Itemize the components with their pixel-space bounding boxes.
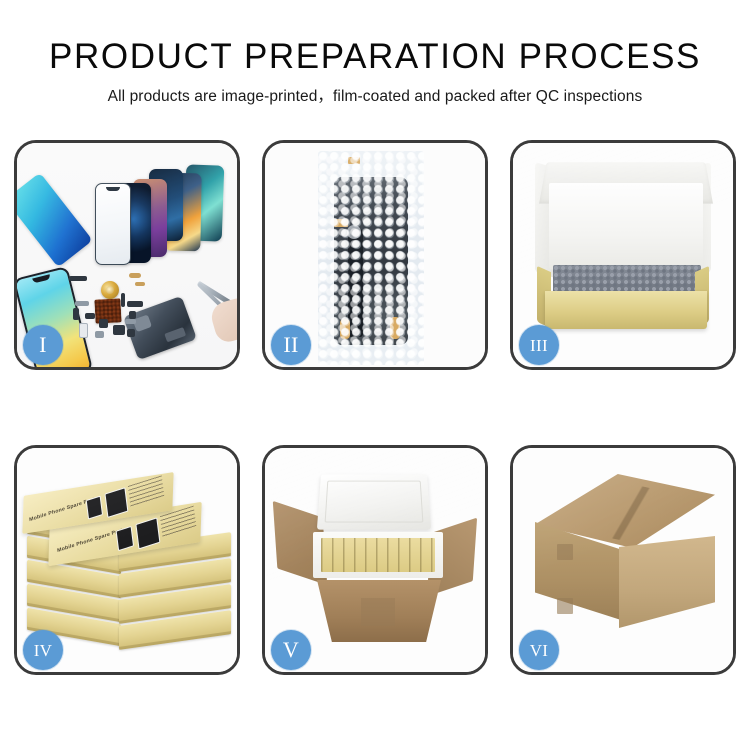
carton-tape-lower bbox=[557, 598, 573, 614]
step-panel-1: I bbox=[14, 140, 240, 370]
step-badge-5: V bbox=[271, 630, 311, 670]
step-numeral-6: VI bbox=[530, 642, 549, 659]
box-window-thumbnail bbox=[116, 526, 134, 551]
step-panel-2: II bbox=[262, 140, 488, 370]
step-panel-4: Mobile Phone Spare Parts Mobile Phone Sp… bbox=[14, 445, 240, 675]
spare-part bbox=[127, 329, 135, 337]
box-stack: Mobile Phone Spare Parts Mobile Phone Sp… bbox=[21, 468, 237, 658]
page-title: PRODUCT PREPARATION PROCESS bbox=[0, 36, 750, 78]
step-badge-2: II bbox=[271, 325, 311, 365]
carton-tape bbox=[361, 598, 395, 626]
process-steps-grid: I II bbox=[14, 140, 736, 675]
spare-part bbox=[99, 319, 108, 328]
box-window-thumbnail bbox=[104, 487, 128, 518]
box-window-thumbnail bbox=[86, 496, 103, 520]
box-spec-lines bbox=[128, 475, 164, 507]
page-header: PRODUCT PREPARATION PROCESS All products… bbox=[0, 36, 750, 108]
step-badge-1: I bbox=[23, 325, 63, 365]
step-numeral-3: III bbox=[530, 337, 548, 354]
spare-part bbox=[129, 273, 141, 278]
spare-part bbox=[129, 311, 136, 319]
step-numeral-4: IV bbox=[34, 642, 53, 659]
box-window-thumbnail bbox=[135, 517, 160, 549]
spare-part bbox=[121, 293, 125, 307]
spare-part bbox=[125, 319, 136, 324]
spare-part bbox=[135, 282, 145, 286]
phone-glass-panel bbox=[95, 183, 131, 265]
step-numeral-1: I bbox=[39, 334, 47, 356]
bubble-wrap-bag bbox=[318, 151, 424, 365]
step-badge-4: IV bbox=[23, 630, 63, 670]
page-subtitle: All products are image-printed，film-coat… bbox=[0, 86, 750, 108]
step-panel-3: III bbox=[510, 140, 736, 370]
bubble-texture-overlay bbox=[318, 151, 424, 365]
spare-part bbox=[113, 325, 125, 335]
step-badge-3: III bbox=[519, 325, 559, 365]
spare-part bbox=[73, 308, 79, 320]
step-numeral-5: V bbox=[283, 639, 299, 661]
spare-part bbox=[95, 331, 104, 338]
spare-part bbox=[69, 276, 87, 281]
gold-coil-part bbox=[101, 281, 119, 299]
step-panel-6: VI bbox=[510, 445, 736, 675]
step-numeral-2: II bbox=[283, 334, 298, 356]
white-foam-liner bbox=[549, 183, 703, 269]
step-panel-5: V bbox=[262, 445, 488, 675]
spare-part bbox=[79, 323, 88, 338]
styrofoam-lid bbox=[317, 474, 431, 529]
spare-part bbox=[75, 301, 89, 306]
step-badge-6: VI bbox=[519, 630, 559, 670]
kraft-box-front bbox=[545, 291, 707, 329]
carton-tape-upper bbox=[557, 544, 573, 560]
yellow-boxes-inside bbox=[321, 538, 435, 572]
product-preparation-process-page: PRODUCT PREPARATION PROCESS All products… bbox=[0, 0, 750, 750]
spare-part bbox=[127, 301, 143, 307]
spare-part bbox=[85, 313, 95, 319]
